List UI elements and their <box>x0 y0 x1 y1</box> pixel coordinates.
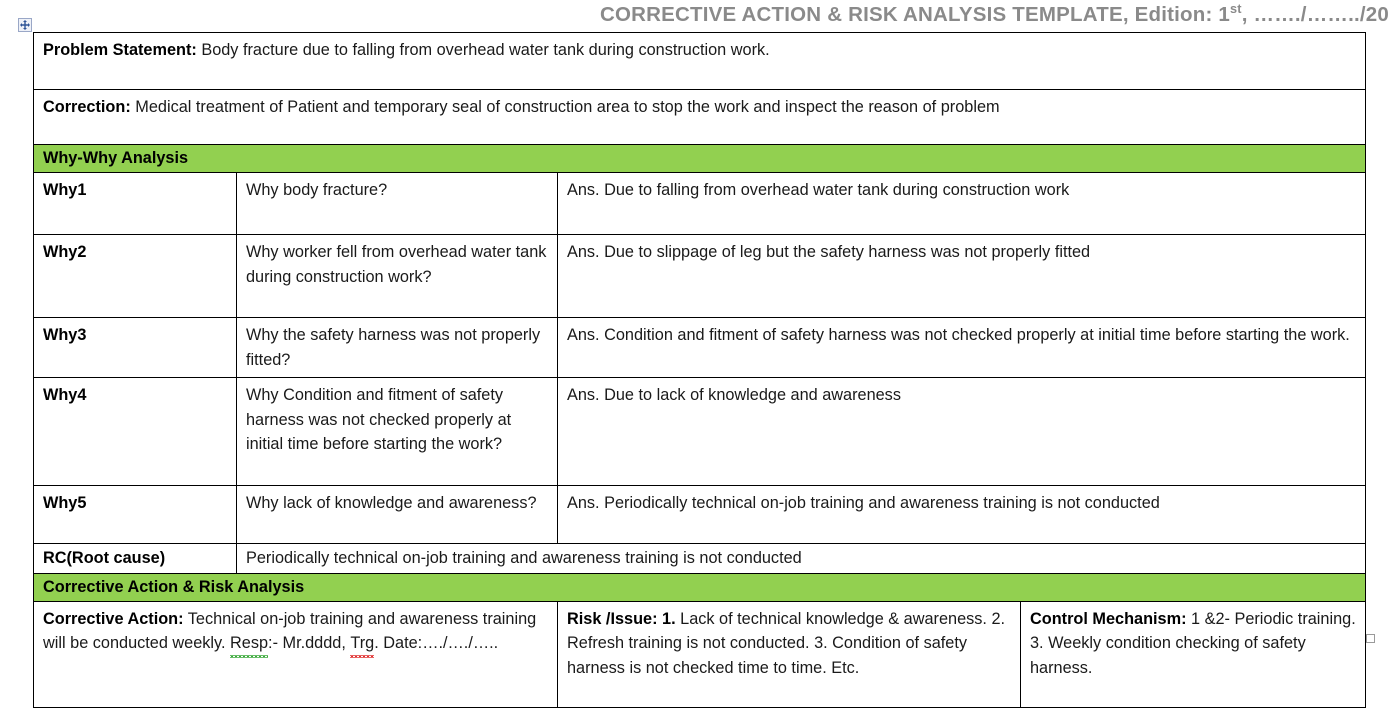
why4-question-cell[interactable]: Why Condition and fitment of safety harn… <box>237 378 558 486</box>
corrective-action-banner-cell: Corrective Action & Risk Analysis <box>34 573 1366 601</box>
why3-label-cell: Why3 <box>34 318 237 378</box>
risk-issue-cell[interactable]: Risk /Issue: 1. Lack of technical knowle… <box>558 601 1021 707</box>
why2-question: Why worker fell from overhead water tank… <box>246 243 546 286</box>
table-row-corrective-action-details: Corrective Action: Technical on-job trai… <box>34 601 1366 707</box>
why4-label: Why4 <box>43 386 86 404</box>
why5-question-cell[interactable]: Why lack of knowledge and awareness? <box>237 486 558 544</box>
why1-label-cell: Why1 <box>34 173 237 235</box>
why2-label: Why2 <box>43 243 86 261</box>
why-why-banner-cell: Why-Why Analysis <box>34 145 1366 173</box>
table-row-corrective-action-banner: Corrective Action & Risk Analysis <box>34 573 1366 601</box>
table-row-correction: Correction: Medical treatment of Patient… <box>34 90 1366 145</box>
why3-label: Why3 <box>43 326 86 344</box>
control-mechanism-cell[interactable]: Control Mechanism: 1 &2- Periodic traini… <box>1021 601 1366 707</box>
corrective-action-text-part2: :- Mr.dddd, <box>268 634 350 652</box>
why4-answer-cell[interactable]: Ans. Due to lack of knowledge and awaren… <box>558 378 1366 486</box>
why1-answer-cell[interactable]: Ans. Due to falling from overhead water … <box>558 173 1366 235</box>
why3-answer-cell[interactable]: Ans. Condition and fitment of safety har… <box>558 318 1366 378</box>
why1-answer: Ans. Due to falling from overhead water … <box>567 181 1069 199</box>
problem-statement-text: Body fracture due to falling from overhe… <box>197 41 770 59</box>
why1-question-cell[interactable]: Why body fracture? <box>237 173 558 235</box>
correction-label: Correction: <box>43 98 131 116</box>
root-cause-text-cell[interactable]: Periodically technical on-job training a… <box>237 544 1366 574</box>
document-title-superscript: st <box>1230 1 1242 16</box>
why1-question: Why body fracture? <box>246 181 387 199</box>
control-mechanism-label: Control Mechanism: <box>1030 610 1187 628</box>
why3-answer: Ans. Condition and fitment of safety har… <box>567 326 1350 344</box>
document-title: CORRECTIVE ACTION & RISK ANALYSIS TEMPLA… <box>0 1 1389 29</box>
corrective-action-misspelled-trg: Trg <box>350 631 374 656</box>
table-row-why3: Why3 Why the safety harness was not prop… <box>34 318 1366 378</box>
corrective-action-text-part3: . Date:…./…./….. <box>374 634 498 652</box>
why3-question: Why the safety harness was not properly … <box>246 326 540 369</box>
why2-answer-cell[interactable]: Ans. Due to slippage of leg but the safe… <box>558 235 1366 318</box>
table-row-root-cause: RC(Root cause) Periodically technical on… <box>34 544 1366 574</box>
corrective-action-cell[interactable]: Corrective Action: Technical on-job trai… <box>34 601 558 707</box>
why1-label: Why1 <box>43 181 86 199</box>
document-title-suffix: , ……./……../20 <box>1242 3 1389 26</box>
table-row-why1: Why1 Why body fracture? Ans. Due to fall… <box>34 173 1366 235</box>
correction-text: Medical treatment of Patient and tempora… <box>131 98 1000 116</box>
why4-question: Why Condition and fitment of safety harn… <box>246 386 511 453</box>
problem-statement-label: Problem Statement: <box>43 41 197 59</box>
why5-label-cell: Why5 <box>34 486 237 544</box>
why5-question: Why lack of knowledge and awareness? <box>246 494 537 512</box>
why-why-banner-label: Why-Why Analysis <box>43 149 188 167</box>
document-page: CORRECTIVE ACTION & RISK ANALYSIS TEMPLA… <box>0 0 1393 650</box>
correction-cell[interactable]: Correction: Medical treatment of Patient… <box>34 90 1366 145</box>
corrective-action-label: Corrective Action: <box>43 610 184 628</box>
table-resize-handle[interactable] <box>1366 634 1375 643</box>
why3-question-cell[interactable]: Why the safety harness was not properly … <box>237 318 558 378</box>
problem-statement-cell[interactable]: Problem Statement: Body fracture due to … <box>34 33 1366 90</box>
why2-label-cell: Why2 <box>34 235 237 318</box>
table-row-why-why-banner: Why-Why Analysis <box>34 145 1366 173</box>
table-row-problem-statement: Problem Statement: Body fracture due to … <box>34 33 1366 90</box>
why2-answer: Ans. Due to slippage of leg but the safe… <box>567 243 1090 261</box>
table-row-why4: Why4 Why Condition and fitment of safety… <box>34 378 1366 486</box>
risk-issue-label: Risk /Issue: 1. <box>567 610 676 628</box>
why2-question-cell[interactable]: Why worker fell from overhead water tank… <box>237 235 558 318</box>
why4-label-cell: Why4 <box>34 378 237 486</box>
why4-answer: Ans. Due to lack of knowledge and awaren… <box>567 386 901 404</box>
corrective-action-table: Problem Statement: Body fracture due to … <box>33 32 1366 708</box>
document-title-prefix: CORRECTIVE ACTION & RISK ANALYSIS TEMPLA… <box>600 3 1230 26</box>
corrective-action-misspelled-resp: Resp <box>230 631 268 656</box>
why5-answer-cell[interactable]: Ans. Periodically technical on-job train… <box>558 486 1366 544</box>
why5-answer: Ans. Periodically technical on-job train… <box>567 494 1160 512</box>
root-cause-label-cell: RC(Root cause) <box>34 544 237 574</box>
table-row-why5: Why5 Why lack of knowledge and awareness… <box>34 486 1366 544</box>
corrective-action-banner-label: Corrective Action & Risk Analysis <box>43 578 304 596</box>
root-cause-text: Periodically technical on-job training a… <box>246 549 802 567</box>
root-cause-label: RC(Root cause) <box>43 549 165 567</box>
table-row-why2: Why2 Why worker fell from overhead water… <box>34 235 1366 318</box>
why5-label: Why5 <box>43 494 86 512</box>
